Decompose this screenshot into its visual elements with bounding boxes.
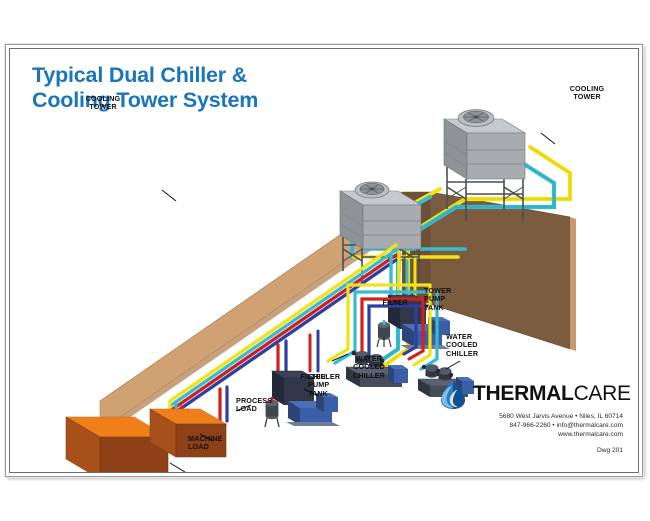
brand-website[interactable]: www.thermalcare.com bbox=[435, 430, 623, 439]
label-water-cooled-chiller-right: WATER COOLED CHILLER bbox=[446, 333, 500, 358]
label-filter-tower: FILTER bbox=[368, 299, 408, 307]
diagram-page: Typical Dual Chiller & Cooling Tower Sys… bbox=[0, 0, 650, 521]
drawing-number: Dwg 201 bbox=[597, 447, 623, 454]
label-water-cooled-chiller-left: WATER COOLED CHILLER bbox=[343, 355, 395, 380]
brand-wordmark-light: CARE bbox=[574, 382, 631, 405]
label-process-load: PROCESS LOAD bbox=[236, 397, 286, 414]
brand-address: 5680 West Jarvis Avenue • Niles, IL 6071… bbox=[435, 412, 623, 421]
label-cooling-tower-left: COOLING TOWER bbox=[72, 95, 134, 112]
drawing-sheet-inner: Typical Dual Chiller & Cooling Tower Sys… bbox=[9, 48, 639, 473]
label-cooling-tower-right: COOLING TOWER bbox=[556, 85, 618, 102]
brand-wordmark-bold: THERMAL bbox=[473, 382, 574, 405]
label-machine-load: MACHINE LOAD bbox=[188, 435, 242, 452]
brand-logo-block: THERMALCARE 5680 West Jarvis Avenue • Ni… bbox=[435, 379, 625, 464]
brand-phone-email: 847-966-2260 • info@thermalcare.com bbox=[435, 421, 623, 430]
water-droplet-logo-icon bbox=[438, 379, 468, 410]
brand-wordmark: THERMALCARE bbox=[473, 382, 631, 406]
drawing-sheet: Typical Dual Chiller & Cooling Tower Sys… bbox=[5, 44, 643, 477]
brand-contact-info: 5680 West Jarvis Avenue • Niles, IL 6071… bbox=[435, 412, 623, 440]
label-tower-pump-tank: TOWER PUMP TANK bbox=[424, 287, 478, 312]
